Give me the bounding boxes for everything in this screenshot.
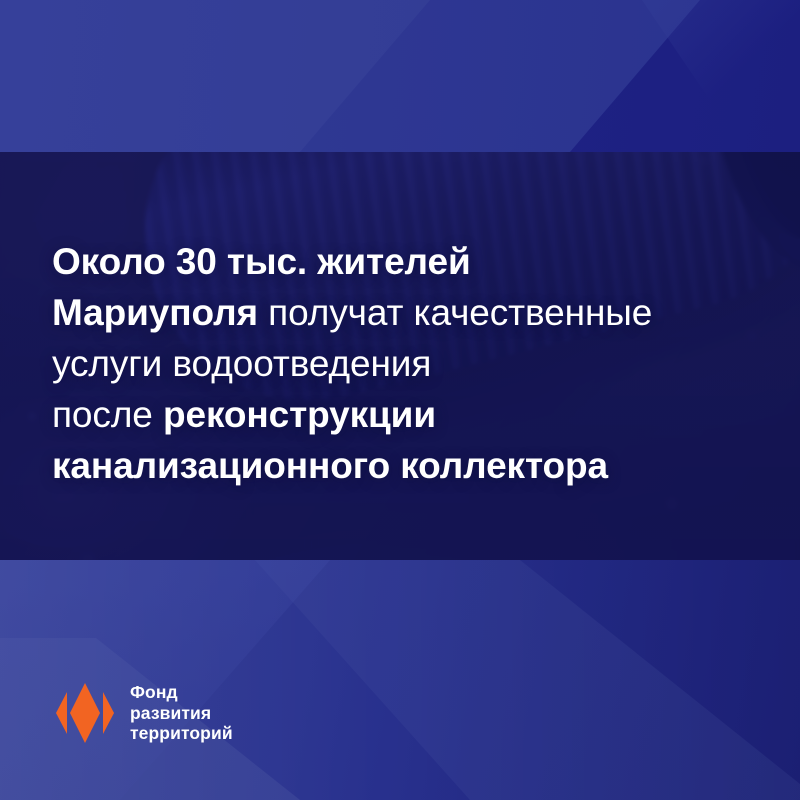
logo-lockup: Фонд развития территорий — [56, 682, 233, 744]
headline-emphasis: канализационного коллектора — [52, 445, 608, 486]
bottom-band-sheen — [0, 560, 800, 800]
headline: Около 30 тыс. жителейМариуполя получат к… — [52, 236, 752, 491]
bottom-band — [0, 560, 800, 800]
top-band — [0, 0, 800, 152]
headline-line-4: после реконструкции — [52, 389, 752, 440]
headline-line-1: Около 30 тыс. жителей — [52, 236, 752, 287]
headline-line-3: услуги водоотведения — [52, 338, 752, 389]
headline-text: получат качественные — [258, 292, 652, 333]
social-card: Около 30 тыс. жителейМариуполя получат к… — [0, 0, 800, 800]
headline-emphasis: Мариуполя — [52, 292, 258, 333]
headline-text: услуги водоотведения — [52, 343, 431, 384]
headline-emphasis: Около 30 тыс. жителей — [52, 241, 471, 282]
fund-diamond-mark-icon — [56, 683, 114, 743]
headline-emphasis: реконструкции — [163, 394, 436, 435]
logo-text: Фонд развития территорий — [130, 682, 233, 744]
headline-line-2: Мариуполя получат качественные — [52, 287, 752, 338]
headline-text: после — [52, 394, 163, 435]
headline-line-5: канализационного коллектора — [52, 440, 752, 491]
